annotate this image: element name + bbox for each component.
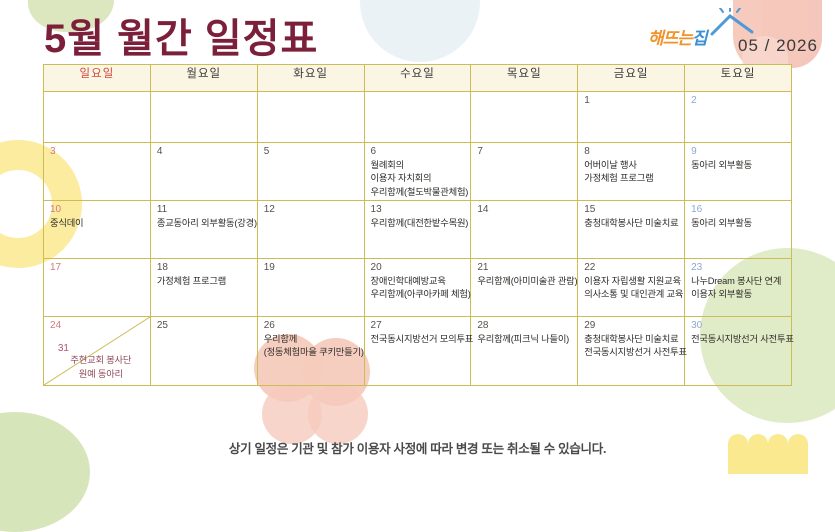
day-events-list: 월례회의이용자 자치회의우리함께(철도박물관체험) — [371, 159, 466, 199]
day-events-list: 종교동아리 외부활동(강경) — [157, 217, 252, 230]
day-number-4: 4 — [157, 146, 252, 157]
day-number-16: 16 — [691, 204, 786, 215]
day-cell-content: 19 — [258, 259, 364, 316]
calendar-day-cell-empty[interactable] — [364, 92, 471, 143]
day-cell-content: 25 — [151, 317, 257, 385]
day-events-list: 어버이날 행사가정체험 프로그램 — [584, 159, 679, 186]
day-number-28: 28 — [477, 320, 572, 331]
event-text: 원예 동아리 — [58, 368, 144, 381]
day-cell-content: 28우리함께(피크닉 나들이) — [471, 317, 577, 385]
event-text: 가정체험 프로그램 — [157, 275, 252, 288]
day-cell-content: 29충청대학봉사단 미술치료전국동시지방선거 사전투표 — [578, 317, 684, 385]
logo-text-part2: 집 — [692, 29, 707, 48]
calendar-day-cell-empty[interactable] — [257, 92, 364, 143]
day-number-11: 11 — [157, 204, 252, 215]
calendar-day-cell-17[interactable]: 17 — [44, 259, 151, 317]
day-events-list: 전국동시지방선거 사전투표 — [691, 333, 786, 346]
day-cell-content: 1 — [578, 92, 684, 142]
day-cell-lower-half: 31주현교회 봉사단원예 동아리 — [58, 343, 144, 381]
day-number-3: 3 — [50, 146, 145, 157]
event-text: 충청대학봉사단 미술치료 — [584, 333, 679, 346]
calendar-day-cell-16[interactable]: 16동아리 외부활동 — [685, 201, 792, 259]
day-cell-content: 20장애인학대예방교육우리함께(아쿠아카페 체험) — [365, 259, 471, 316]
event-text: 우리함께(대전한밭수목원) — [371, 217, 466, 230]
calendar-day-cell-2[interactable]: 2 — [685, 92, 792, 143]
event-text: 이용자 자립생활 지원교육 — [584, 275, 679, 288]
calendar-day-cell-5[interactable]: 5 — [257, 143, 364, 201]
calendar-day-cell-30[interactable]: 30전국동시지방선거 사전투표 — [685, 317, 792, 386]
day-number-25: 25 — [157, 320, 252, 331]
day-cell-content: 23나누Dream 봉사단 연계이용자 외부활동 — [685, 259, 791, 316]
weekday-header-row: 일요일 월요일 화요일 수요일 목요일 금요일 토요일 — [44, 65, 792, 92]
calendar-day-cell-19[interactable]: 19 — [257, 259, 364, 317]
event-text: (정동체험마을 쿠키만들기) — [264, 346, 359, 359]
day-cell-content: 27전국동시지방선거 모의투표 — [365, 317, 471, 385]
day-cell-content: 10중식데이 — [44, 201, 150, 258]
day-cell-content — [471, 92, 577, 142]
event-text: 주현교회 봉사단 — [58, 354, 144, 367]
day-cell-content: 7 — [471, 143, 577, 200]
day-number-5: 5 — [264, 146, 359, 157]
calendar-day-cell-22[interactable]: 22이용자 자립생활 지원교육의사소통 및 대인관계 교육 — [578, 259, 685, 317]
logo-wordmark: 해뜨는집 — [648, 24, 707, 49]
event-text: 이용자 자치회의 — [371, 172, 466, 185]
day-number-24: 24 — [50, 320, 61, 331]
day-events-list: 중식데이 — [50, 217, 145, 230]
day-events-list: 충청대학봉사단 미술치료전국동시지방선거 사전투표 — [584, 333, 679, 360]
day-cell-content: 8어버이날 행사가정체험 프로그램 — [578, 143, 684, 200]
calendar-day-cell-7[interactable]: 7 — [471, 143, 578, 201]
day-number-6: 6 — [371, 146, 466, 157]
footer-note: 상기 일정은 기관 및 참가 이용자 사정에 따라 변경 또는 취소될 수 있습… — [0, 438, 835, 457]
day-events-list: 나누Dream 봉사단 연계이용자 외부활동 — [691, 275, 786, 302]
day-number-17: 17 — [50, 262, 145, 273]
day-number-14: 14 — [477, 204, 572, 215]
calendar-day-cell-20[interactable]: 20장애인학대예방교육우리함께(아쿠아카페 체험) — [364, 259, 471, 317]
calendar-day-cell-8[interactable]: 8어버이날 행사가정체험 프로그램 — [578, 143, 685, 201]
day-cell-content: 15충청대학봉사단 미술치료 — [578, 201, 684, 258]
day-number-29: 29 — [584, 320, 679, 331]
calendar-day-cell-1[interactable]: 1 — [578, 92, 685, 143]
calendar-day-cell-27[interactable]: 27전국동시지방선거 모의투표 — [364, 317, 471, 386]
day-cell-content: 4 — [151, 143, 257, 200]
event-text: 동아리 외부활동 — [691, 159, 786, 172]
pink-banner-decoration-back — [762, 0, 822, 68]
day-events-list: 전국동시지방선거 모의투표 — [371, 333, 466, 346]
calendar-day-cell-23[interactable]: 23나누Dream 봉사단 연계이용자 외부활동 — [685, 259, 792, 317]
event-text: 충청대학봉사단 미술치료 — [584, 217, 679, 230]
weekday-header-wednesday: 수요일 — [364, 65, 471, 92]
calendar-day-cell-11[interactable]: 11종교동아리 외부활동(강경) — [150, 201, 257, 259]
day-number-31: 31 — [58, 343, 144, 354]
event-text: 우리함께(철도박물관체험) — [371, 186, 466, 199]
day-number-10: 10 — [50, 204, 145, 215]
event-text: 종교동아리 외부활동(강경) — [157, 217, 252, 230]
calendar-day-cell-empty[interactable] — [44, 92, 151, 143]
day-cell-content: 6월례회의이용자 자치회의우리함께(철도박물관체험) — [365, 143, 471, 200]
day-number-8: 8 — [584, 146, 679, 157]
calendar-day-cell-12[interactable]: 12 — [257, 201, 364, 259]
page-title: 5월 월간 일정표 — [44, 6, 318, 64]
calendar-day-cell-9[interactable]: 9동아리 외부활동 — [685, 143, 792, 201]
green-circle-decoration-bottom-left — [0, 412, 90, 532]
monthly-calendar-table: 일요일 월요일 화요일 수요일 목요일 금요일 토요일 123456월례회의이용… — [43, 64, 792, 386]
calendar-body: 123456월례회의이용자 자치회의우리함께(철도박물관체험)78어버이날 행사… — [44, 92, 792, 386]
day-events-list: 우리함께(피크닉 나들이) — [477, 333, 572, 346]
month-year-label: 05 / 2026 — [738, 36, 818, 56]
day-events-list: 장애인학대예방교육우리함께(아쿠아카페 체험) — [371, 275, 466, 302]
event-text: 전국동시지방선거 사전투표 — [584, 346, 679, 359]
event-text: 우리함께(아쿠아카페 체험) — [371, 288, 466, 301]
calendar-day-cell-empty[interactable] — [471, 92, 578, 143]
day-events-list: 이용자 자립생활 지원교육의사소통 및 대인관계 교육 — [584, 275, 679, 302]
day-events-list: 충청대학봉사단 미술치료 — [584, 217, 679, 230]
day-events-list: 우리함께(정동체험마을 쿠키만들기) — [264, 333, 359, 360]
day-cell-content: 5 — [258, 143, 364, 200]
day-events-list: 우리함께(아미미술관 관람) — [477, 275, 572, 288]
day-number-7: 7 — [477, 146, 572, 157]
event-text: 가정체험 프로그램 — [584, 172, 679, 185]
day-events-list: 가정체험 프로그램 — [157, 275, 252, 288]
calendar-day-cell-25[interactable]: 25 — [150, 317, 257, 386]
day-cell-content: 12 — [258, 201, 364, 258]
event-text: 우리함께(피크닉 나들이) — [477, 333, 572, 346]
day-number-12: 12 — [264, 204, 359, 215]
day-cell-content: 16동아리 외부활동 — [685, 201, 791, 258]
event-text: 장애인학대예방교육 — [371, 275, 466, 288]
calendar-day-cell-28[interactable]: 28우리함께(피크닉 나들이) — [471, 317, 578, 386]
day-cell-content — [44, 92, 150, 142]
weekday-header-thursday: 목요일 — [471, 65, 578, 92]
calendar-day-cell-18[interactable]: 18가정체험 프로그램 — [150, 259, 257, 317]
calendar-week-row: 1718가정체험 프로그램1920장애인학대예방교육우리함께(아쿠아카페 체험)… — [44, 259, 792, 317]
event-text: 월례회의 — [371, 159, 466, 172]
event-text: 우리함께 — [264, 333, 359, 346]
day-cell-content: 22이용자 자립생활 지원교육의사소통 및 대인관계 교육 — [578, 259, 684, 316]
event-text: 전국동시지방선거 사전투표 — [691, 333, 786, 346]
day-cell-content: 30전국동시지방선거 사전투표 — [685, 317, 791, 385]
day-events-list: 우리함께(대전한밭수목원) — [371, 217, 466, 230]
day-events-list: 동아리 외부활동 — [691, 217, 786, 230]
day-cell-content: 26우리함께(정동체험마을 쿠키만들기) — [258, 317, 364, 385]
calendar-day-cell-26[interactable]: 26우리함께(정동체험마을 쿠키만들기) — [257, 317, 364, 386]
logo-text-part1: 해뜨는 — [648, 29, 692, 48]
weekday-header-monday: 월요일 — [150, 65, 257, 92]
calendar-day-cell-10[interactable]: 10중식데이 — [44, 201, 151, 259]
day-number-13: 13 — [371, 204, 466, 215]
event-text: 우리함께(아미미술관 관람) — [477, 275, 572, 288]
day-number-26: 26 — [264, 320, 359, 331]
calendar-day-cell-3[interactable]: 3 — [44, 143, 151, 201]
day-cell-content: 18가정체험 프로그램 — [151, 259, 257, 316]
calendar-day-cell-13[interactable]: 13우리함께(대전한밭수목원) — [364, 201, 471, 259]
day-number-30: 30 — [691, 320, 786, 331]
calendar-day-cell-21[interactable]: 21우리함께(아미미술관 관람) — [471, 259, 578, 317]
day-cell-content — [258, 92, 364, 142]
event-text: 의사소통 및 대인관계 교육 — [584, 288, 679, 301]
event-text: 이용자 외부활동 — [691, 288, 786, 301]
event-text: 어버이날 행사 — [584, 159, 679, 172]
calendar-week-row: 2431주현교회 봉사단원예 동아리2526우리함께(정동체험마을 쿠키만들기)… — [44, 317, 792, 386]
weekday-header-sunday: 일요일 — [44, 65, 151, 92]
event-text: 나누Dream 봉사단 연계 — [691, 275, 786, 288]
day-cell-content: 11종교동아리 외부활동(강경) — [151, 201, 257, 258]
day-cell-content — [365, 92, 471, 142]
pale-circle-decoration-top — [360, 0, 480, 62]
calendar-day-cell-empty[interactable] — [150, 92, 257, 143]
day-cell-content: 14 — [471, 201, 577, 258]
day-number-9: 9 — [691, 146, 786, 157]
calendar-day-cell-15[interactable]: 15충청대학봉사단 미술치료 — [578, 201, 685, 259]
day-cell-content: 13우리함께(대전한밭수목원) — [365, 201, 471, 258]
day-cell-content: 17 — [44, 259, 150, 316]
day-cell-content — [151, 92, 257, 142]
day-cell-content: 3 — [44, 143, 150, 200]
day-number-1: 1 — [584, 95, 679, 106]
calendar-week-row: 10중식데이11종교동아리 외부활동(강경)1213우리함께(대전한밭수목원)1… — [44, 201, 792, 259]
day-cell-content: 9동아리 외부활동 — [685, 143, 791, 200]
calendar-day-cell-24[interactable]: 2431주현교회 봉사단원예 동아리 — [44, 317, 151, 386]
weekday-header-friday: 금요일 — [578, 65, 685, 92]
event-text: 중식데이 — [50, 217, 145, 230]
day-number-20: 20 — [371, 262, 466, 273]
day-number-22: 22 — [584, 262, 679, 273]
calendar-day-cell-29[interactable]: 29충청대학봉사단 미술치료전국동시지방선거 사전투표 — [578, 317, 685, 386]
day-number-15: 15 — [584, 204, 679, 215]
day-number-23: 23 — [691, 262, 786, 273]
calendar-week-row: 12 — [44, 92, 792, 143]
day-number-2: 2 — [691, 95, 786, 106]
day-number-21: 21 — [477, 262, 572, 273]
day-cell-upper-half: 24 — [50, 320, 61, 331]
day-cell-content: 2431주현교회 봉사단원예 동아리 — [44, 317, 150, 385]
event-text: 전국동시지방선거 모의투표 — [371, 333, 466, 346]
calendar-day-cell-4[interactable]: 4 — [150, 143, 257, 201]
calendar-day-cell-6[interactable]: 6월례회의이용자 자치회의우리함께(철도박물관체험) — [364, 143, 471, 201]
weekday-header-saturday: 토요일 — [685, 65, 792, 92]
calendar-week-row: 3456월례회의이용자 자치회의우리함께(철도박물관체험)78어버이날 행사가정… — [44, 143, 792, 201]
day-number-19: 19 — [264, 262, 359, 273]
event-text: 동아리 외부활동 — [691, 217, 786, 230]
day-number-27: 27 — [371, 320, 466, 331]
day-events-list: 동아리 외부활동 — [691, 159, 786, 172]
day-cell-content: 21우리함께(아미미술관 관람) — [471, 259, 577, 316]
weekday-header-tuesday: 화요일 — [257, 65, 364, 92]
day-number-18: 18 — [157, 262, 252, 273]
day-cell-content: 2 — [685, 92, 791, 142]
calendar-day-cell-14[interactable]: 14 — [471, 201, 578, 259]
